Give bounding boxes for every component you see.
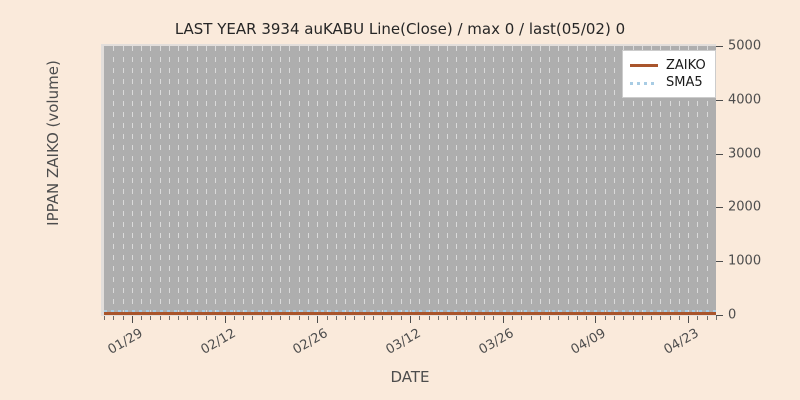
gridline-vertical [123, 46, 124, 315]
x-tick-mark-minor [113, 316, 114, 320]
x-tick-mark-minor [289, 316, 290, 320]
y-tick-mark [716, 207, 723, 208]
x-tick-mark-minor [697, 316, 698, 320]
x-tick-mark-minor [549, 316, 550, 320]
x-tick-mark-minor [160, 316, 161, 320]
x-tick-mark-minor [586, 316, 587, 320]
gridline-vertical [531, 46, 532, 315]
y-axis-tick: 4000 [716, 93, 761, 107]
y-tick-mark [716, 100, 723, 101]
gridline-vertical [354, 46, 355, 315]
x-tick-mark-minor [633, 316, 634, 320]
x-tick-mark-minor [299, 316, 300, 320]
gridline-vertical [577, 46, 578, 315]
x-tick-mark-major [410, 316, 411, 323]
x-tick-mark-minor [521, 316, 522, 320]
y-tick-label: 5000 [728, 39, 761, 54]
gridline-vertical [447, 46, 448, 315]
x-tick-mark-minor [642, 316, 643, 320]
gridline-vertical [614, 46, 615, 315]
legend-swatch-dotted-line-icon [629, 77, 659, 89]
x-tick-mark-minor [540, 316, 541, 320]
x-tick-mark-major [688, 316, 689, 323]
x-tick-label: 01/29 [96, 326, 145, 363]
gridline-vertical [401, 46, 402, 315]
gridline-vertical [419, 46, 420, 315]
gridline-vertical [568, 46, 569, 315]
x-tick-label: 04/09 [560, 326, 609, 363]
gridline-vertical [595, 46, 596, 315]
x-tick-mark-major [317, 316, 318, 323]
y-tick-mark [716, 46, 723, 47]
x-tick-mark-minor [308, 316, 309, 320]
legend-label-sma5: SMA5 [666, 75, 703, 90]
gridline-vertical [178, 46, 179, 315]
x-tick-mark-minor [512, 316, 513, 320]
gridline-vertical [234, 46, 235, 315]
y-axis-tick: 1000 [716, 254, 761, 268]
gridline-vertical [382, 46, 383, 315]
gridline-vertical [475, 46, 476, 315]
x-tick-mark-minor [215, 316, 216, 320]
gridline-vertical [512, 46, 513, 315]
gridline-vertical [252, 46, 253, 315]
x-tick-mark-minor [419, 316, 420, 320]
x-tick-mark-minor [271, 316, 272, 320]
x-tick-label: 04/23 [653, 326, 702, 363]
series-line-zaiko [104, 312, 716, 315]
gridline-vertical [364, 46, 365, 315]
legend-label-zaiko: ZAIKO [666, 58, 706, 73]
gridline-vertical [289, 46, 290, 315]
legend-entry-zaiko[interactable]: ZAIKO [629, 57, 708, 74]
chart-title: LAST YEAR 3934 auKABU Line(Close) / max … [0, 20, 800, 38]
gridline-vertical [243, 46, 244, 315]
x-tick-mark-minor [345, 316, 346, 320]
x-tick-mark-minor [679, 316, 680, 320]
x-axis-title: DATE [104, 368, 716, 386]
x-tick-mark-minor [531, 316, 532, 320]
x-tick-mark-minor [558, 316, 559, 320]
y-tick-label: 3000 [728, 146, 761, 161]
gridline-vertical [549, 46, 550, 315]
x-tick-mark-minor [262, 316, 263, 320]
x-tick-mark-minor [484, 316, 485, 320]
y-axis-tick: 2000 [716, 200, 761, 214]
x-tick-mark-minor [178, 316, 179, 320]
gridline-vertical [187, 46, 188, 315]
y-tick-label: 0 [728, 308, 736, 323]
x-tick-mark-minor [660, 316, 661, 320]
x-tick-mark-minor [354, 316, 355, 320]
x-tick-mark-major [595, 316, 596, 323]
gridline-vertical [493, 46, 494, 315]
y-tick-mark [716, 315, 723, 316]
gridline-vertical [160, 46, 161, 315]
x-tick-mark-minor [104, 316, 105, 320]
gridline-vertical [317, 46, 318, 315]
gridline-vertical [197, 46, 198, 315]
gridline-vertical [280, 46, 281, 315]
x-tick-mark-minor [280, 316, 281, 320]
x-tick-mark-minor [568, 316, 569, 320]
x-tick-mark-major [503, 316, 504, 323]
x-tick-mark-minor [438, 316, 439, 320]
gridline-vertical [206, 46, 207, 315]
gridline-vertical [271, 46, 272, 315]
y-axis-title: IPPAN ZAIKO (volume) [44, 53, 62, 233]
gridline-vertical [169, 46, 170, 315]
y-tick-label: 1000 [728, 254, 761, 269]
x-tick-mark-minor [252, 316, 253, 320]
gridline-vertical [586, 46, 587, 315]
x-tick-mark-minor [169, 316, 170, 320]
x-tick-mark-minor [327, 316, 328, 320]
x-tick-mark-minor [447, 316, 448, 320]
x-tick-mark-minor [187, 316, 188, 320]
x-tick-label: 03/26 [467, 326, 516, 363]
gridline-vertical [262, 46, 263, 315]
y-tick-label: 2000 [728, 200, 761, 215]
x-tick-mark-minor [336, 316, 337, 320]
x-tick-mark-minor [623, 316, 624, 320]
gridline-vertical [373, 46, 374, 315]
gridline-vertical [456, 46, 457, 315]
gridline-vertical [438, 46, 439, 315]
x-tick-mark-minor [670, 316, 671, 320]
x-tick-label: 02/12 [189, 326, 238, 363]
x-tick-mark-minor [475, 316, 476, 320]
gridline-vertical [540, 46, 541, 315]
x-tick-mark-minor [605, 316, 606, 320]
x-tick-mark-minor [382, 316, 383, 320]
x-tick-mark-minor [456, 316, 457, 320]
x-tick-label: 03/12 [374, 326, 423, 363]
gridline-vertical [132, 46, 133, 315]
gridline-vertical [141, 46, 142, 315]
gridline-vertical [327, 46, 328, 315]
gridline-vertical [466, 46, 467, 315]
y-axis-tick: 0 [716, 308, 736, 322]
chart-figure: LAST YEAR 3934 auKABU Line(Close) / max … [0, 0, 800, 400]
x-tick-mark-minor [206, 316, 207, 320]
gridline-vertical [113, 46, 114, 315]
x-tick-mark-major [132, 316, 133, 323]
chart-legend[interactable]: ZAIKO SMA5 [622, 50, 716, 98]
x-tick-mark-minor [651, 316, 652, 320]
gridline-vertical [308, 46, 309, 315]
x-tick-mark-minor [364, 316, 365, 320]
gridline-vertical [558, 46, 559, 315]
gridline-vertical [215, 46, 216, 315]
x-tick-mark-minor [466, 316, 467, 320]
gridline-vertical [503, 46, 504, 315]
y-tick-mark [716, 261, 723, 262]
gridline-vertical [336, 46, 337, 315]
x-tick-mark-minor [391, 316, 392, 320]
x-tick-mark-minor [197, 316, 198, 320]
x-tick-mark-minor [614, 316, 615, 320]
x-tick-mark-minor [141, 316, 142, 320]
x-tick-mark-minor [493, 316, 494, 320]
legend-swatch-solid-line-icon [629, 60, 659, 72]
x-tick-mark-minor [150, 316, 151, 320]
x-tick-mark-minor [716, 316, 717, 320]
x-tick-mark-minor [429, 316, 430, 320]
x-tick-mark-minor [234, 316, 235, 320]
gridline-vertical [521, 46, 522, 315]
gridline-vertical [391, 46, 392, 315]
gridline-vertical [299, 46, 300, 315]
y-axis-tick: 5000 [716, 39, 761, 53]
y-axis-tick: 3000 [716, 147, 761, 161]
gridline-vertical [410, 46, 411, 315]
y-tick-mark [716, 154, 723, 155]
x-tick-mark-minor [707, 316, 708, 320]
gridline-vertical [605, 46, 606, 315]
gridline-vertical [225, 46, 226, 315]
y-tick-label: 4000 [728, 92, 761, 107]
x-tick-mark-minor [243, 316, 244, 320]
x-tick-mark-major [225, 316, 226, 323]
x-tick-mark-minor [577, 316, 578, 320]
gridline-vertical [484, 46, 485, 315]
x-tick-mark-minor [401, 316, 402, 320]
legend-entry-sma5[interactable]: SMA5 [629, 74, 708, 91]
x-tick-mark-minor [373, 316, 374, 320]
gridline-vertical [150, 46, 151, 315]
x-tick-label: 02/26 [282, 326, 331, 363]
x-tick-mark-minor [123, 316, 124, 320]
gridline-vertical [345, 46, 346, 315]
gridline-vertical [429, 46, 430, 315]
